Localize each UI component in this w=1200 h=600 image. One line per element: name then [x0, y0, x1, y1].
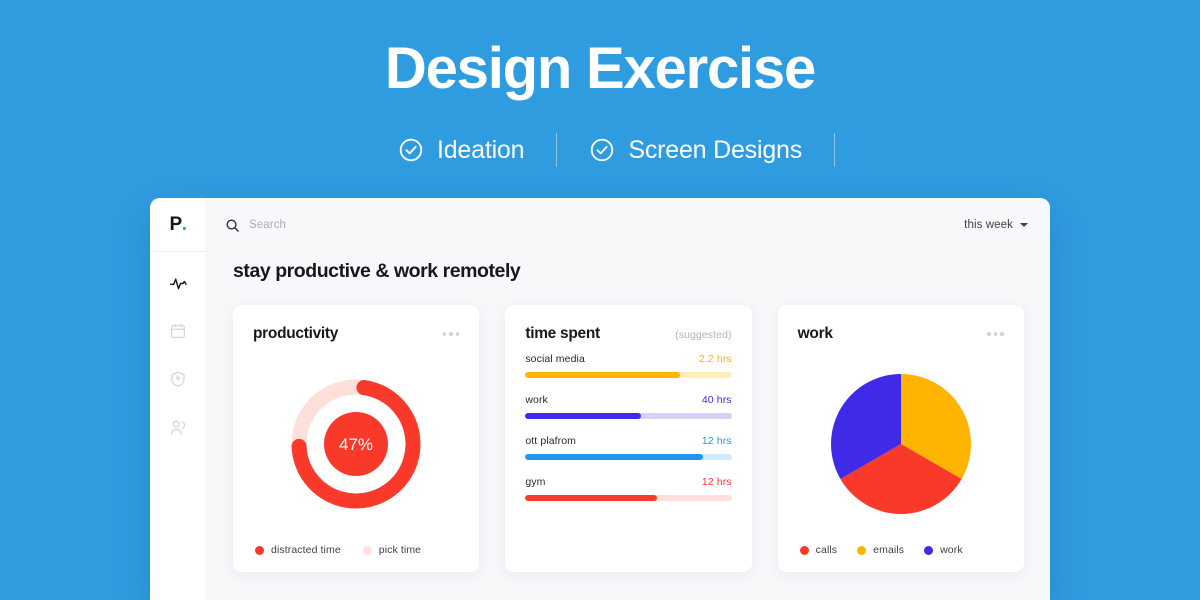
legend-swatch-work: [924, 546, 933, 555]
bar-fill: [525, 372, 680, 378]
bar-value: 12 hrs: [702, 435, 732, 447]
bar-row-gym: gym 12 hrs: [525, 476, 731, 501]
search-icon: [225, 218, 240, 233]
bar-label: work: [525, 394, 548, 406]
bar-row-ott-plafrom: ott plafrom 12 hrs: [525, 435, 731, 460]
step-ideation[interactable]: Ideation: [366, 136, 556, 165]
date-range-label: this week: [964, 219, 1013, 231]
sidebar-item-people[interactable]: [159, 412, 197, 442]
card-header: time spent (suggested): [525, 325, 731, 343]
bar-value: 12 hrs: [702, 476, 732, 488]
check-circle-icon: [589, 137, 615, 163]
legend-label: distracted time: [271, 544, 341, 556]
dashboard-heading: stay productive & work remotely: [207, 252, 1050, 283]
sidebar: P.: [150, 198, 207, 600]
app-logo[interactable]: P.: [150, 198, 206, 252]
legend-item: distracted time: [255, 544, 341, 556]
search-box[interactable]: [225, 218, 449, 233]
date-range-select[interactable]: this week: [964, 219, 1028, 231]
pie-chart-svg: [826, 369, 976, 519]
card-header: work: [798, 325, 1004, 343]
bar-label: gym: [525, 476, 545, 488]
logo-dot: .: [182, 214, 187, 236]
card-title: time spent: [525, 325, 600, 343]
bar-value: 40 hrs: [702, 394, 732, 406]
donut-chart: 47%: [253, 343, 459, 544]
legend-label: emails: [873, 544, 904, 556]
shield-icon: [169, 370, 187, 388]
bar-labels: work 40 hrs: [525, 394, 731, 406]
page-title: Design Exercise: [0, 36, 1200, 103]
chevron-down-icon: [1020, 223, 1028, 227]
users-icon: [169, 418, 188, 437]
legend-item: pick time: [363, 544, 421, 556]
topbar: this week: [207, 198, 1050, 252]
legend-label: work: [940, 544, 963, 556]
legend-productivity: distracted time pick time: [253, 544, 459, 572]
bar-labels: social media 2.2 hrs: [525, 353, 731, 365]
bar-track: [525, 413, 731, 419]
bar-label: social media: [525, 353, 585, 365]
legend-item: work: [924, 544, 963, 556]
step-divider-trailing: [834, 133, 835, 167]
sidebar-item-calendar[interactable]: [159, 316, 197, 346]
card-title: productivity: [253, 325, 338, 343]
donut-chart-svg: 47%: [281, 369, 431, 519]
bar-labels: ott plafrom 12 hrs: [525, 435, 731, 447]
card-time-spent: time spent (suggested) social media 2.2 …: [505, 305, 751, 572]
donut-center-label: 47%: [339, 435, 373, 454]
bar-fill: [525, 454, 702, 460]
legend-swatch-emails: [857, 546, 866, 555]
search-input[interactable]: [249, 219, 449, 231]
bar-value: 2.2 hrs: [699, 353, 732, 365]
check-circle-icon: [398, 137, 424, 163]
bar-labels: gym 12 hrs: [525, 476, 731, 488]
sidebar-item-activity[interactable]: [159, 268, 197, 298]
card-header: productivity: [253, 325, 459, 343]
bar-row-social-media: social media 2.2 hrs: [525, 353, 731, 378]
legend-item: emails: [857, 544, 904, 556]
legend-item: calls: [800, 544, 838, 556]
card-productivity: productivity 47%: [233, 305, 479, 572]
dashboard-window: P.: [150, 198, 1050, 600]
card-work: work: [778, 305, 1024, 572]
bar-fill: [525, 413, 641, 419]
main-content: this week stay productive & work remotel…: [207, 198, 1050, 600]
legend-label: pick time: [379, 544, 421, 556]
bar-track: [525, 372, 731, 378]
calendar-icon: [169, 322, 187, 340]
more-options-icon[interactable]: [987, 325, 1004, 336]
hero-steps: Ideation Screen Designs: [0, 133, 1200, 167]
bar-label: ott plafrom: [525, 435, 576, 447]
bar-track: [525, 495, 731, 501]
activity-icon: [169, 274, 188, 293]
logo-letter: P: [170, 214, 182, 236]
pie-chart: [798, 343, 1004, 544]
cards-row: productivity 47%: [207, 283, 1050, 600]
legend-swatch-calls: [800, 546, 809, 555]
poster: Design Exercise Ideation Screen Designs …: [0, 0, 1200, 600]
step-screen-designs[interactable]: Screen Designs: [557, 136, 834, 165]
step-label: Ideation: [437, 136, 524, 165]
step-label: Screen Designs: [628, 136, 802, 165]
bar-row-work: work 40 hrs: [525, 394, 731, 419]
more-options-icon[interactable]: [443, 325, 460, 336]
card-subtitle: (suggested): [675, 325, 732, 341]
card-title: work: [798, 325, 833, 343]
bar-fill: [525, 495, 657, 501]
legend-label: calls: [816, 544, 838, 556]
sidebar-nav: [150, 252, 206, 442]
sidebar-item-security[interactable]: [159, 364, 197, 394]
legend-work: calls emails work: [798, 544, 1004, 572]
legend-swatch-pick-time: [363, 546, 372, 555]
legend-swatch-distracted-time: [255, 546, 264, 555]
bar-chart: social media 2.2 hrs work 40 hrs: [525, 343, 731, 501]
bar-track: [525, 454, 731, 460]
